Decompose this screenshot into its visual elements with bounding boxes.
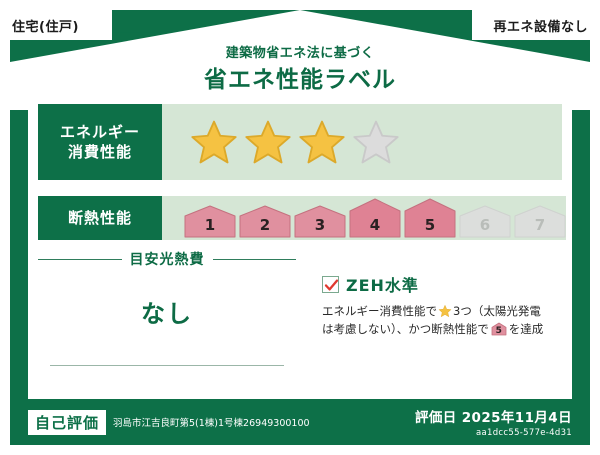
zeh-desc-star-count: 3つ（太陽光発電 bbox=[453, 304, 541, 318]
utility-cost-block: 目安光熱費 なし bbox=[38, 250, 296, 372]
star-filled-icon bbox=[296, 117, 348, 167]
energy-performance-body bbox=[162, 104, 562, 180]
zeh-desc-part2: は考慮しない）、かつ断熱性能で bbox=[322, 322, 489, 336]
badge-renewable-energy: 再エネ設備なし bbox=[472, 10, 600, 40]
utility-cost-value: なし bbox=[38, 294, 296, 329]
insulation-performance-label: 断熱性能 bbox=[38, 196, 162, 240]
heading-rule-right bbox=[213, 259, 297, 260]
zeh-checkbox bbox=[322, 276, 339, 293]
zeh-title: ZEH水準 bbox=[346, 272, 419, 296]
insulation-level-1: 1 bbox=[184, 198, 236, 238]
footer-content: 自己評価 羽島市江吉良町第5(1棟)1号棟26949300100 評価日 202… bbox=[28, 399, 572, 445]
insulation-level-7: 7 bbox=[514, 198, 566, 238]
insulation-level-4: 4 bbox=[349, 198, 401, 238]
footer-bar: 自己評価 羽島市江吉良町第5(1棟)1号棟26949300100 評価日 202… bbox=[10, 399, 590, 445]
zeh-title-row: ZEH水準 bbox=[322, 272, 562, 296]
zeh-desc-part1: エネルギー消費性能で bbox=[322, 304, 437, 318]
energy-label-line1: エネルギー bbox=[60, 122, 140, 142]
insulation-performance-body: 1234567 bbox=[162, 196, 566, 240]
insulation-level-number: 1 bbox=[184, 216, 236, 234]
insulation-level-2: 2 bbox=[239, 198, 291, 238]
lower-section: 目安光熱費 なし ZEH水準 エネルギー消費性能で 3つ（太陽光発電 bbox=[38, 250, 562, 390]
self-evaluation-badge: 自己評価 bbox=[28, 410, 106, 435]
evaluation-date: 評価日 2025年11月4日 bbox=[415, 406, 572, 426]
star-rating bbox=[188, 117, 402, 167]
utility-cost-divider bbox=[50, 365, 284, 366]
utility-cost-heading-row: 目安光熱費 bbox=[38, 250, 296, 268]
insulation-level-number: 2 bbox=[239, 216, 291, 234]
utility-cost-heading: 目安光熱費 bbox=[122, 249, 213, 269]
energy-performance-label: 住宅(住戸) 再エネ設備なし 建築物省エネ法に基づく 省エネ性能ラベル エネルギ… bbox=[0, 0, 600, 455]
header-title: 省エネ性能ラベル bbox=[0, 60, 600, 94]
insulation-level-number: 7 bbox=[514, 216, 566, 234]
star-empty-icon bbox=[350, 117, 402, 167]
insulation-level-number: 4 bbox=[349, 216, 401, 234]
insulation-level-5: 5 bbox=[404, 198, 456, 238]
energy-performance-row: エネルギー 消費性能 bbox=[38, 104, 562, 180]
insulation-level-3: 3 bbox=[294, 198, 346, 238]
insulation-level-number: 5 bbox=[404, 216, 456, 234]
property-address: 羽島市江吉良町第5(1棟)1号棟26949300100 bbox=[113, 415, 310, 429]
evaluation-id: aa1dcc55-577e-4d31 bbox=[415, 428, 572, 438]
insulation-performance-row: 断熱性能 1234567 bbox=[38, 196, 562, 240]
energy-performance-label: エネルギー 消費性能 bbox=[38, 104, 162, 180]
inline-star-icon bbox=[438, 304, 452, 318]
energy-label-line2: 消費性能 bbox=[68, 142, 132, 162]
heading-rule-left bbox=[38, 259, 122, 260]
inline-house-number: 5 bbox=[491, 327, 507, 336]
insulation-level-scale: 1234567 bbox=[184, 198, 566, 238]
footer-left: 自己評価 羽島市江吉良町第5(1棟)1号棟26949300100 bbox=[28, 410, 310, 435]
zeh-desc-part3: を達成 bbox=[509, 322, 544, 336]
star-filled-icon bbox=[188, 117, 240, 167]
header-subtitle: 建築物省エネ法に基づく bbox=[0, 42, 600, 61]
insulation-level-number: 6 bbox=[459, 216, 511, 234]
insulation-level-number: 3 bbox=[294, 216, 346, 234]
zeh-description: エネルギー消費性能で 3つ（太陽光発電 は考慮しない）、かつ断熱性能で 5 を達… bbox=[322, 303, 562, 339]
star-filled-icon bbox=[242, 117, 294, 167]
badge-building-type: 住宅(住戸) bbox=[0, 10, 112, 40]
zeh-block: ZEH水準 エネルギー消費性能で 3つ（太陽光発電 は考慮しない）、かつ断熱性能… bbox=[322, 272, 562, 339]
insulation-level-6: 6 bbox=[459, 198, 511, 238]
inline-house-badge: 5 bbox=[491, 322, 507, 336]
footer-right: 評価日 2025年11月4日 aa1dcc55-577e-4d31 bbox=[415, 406, 572, 438]
